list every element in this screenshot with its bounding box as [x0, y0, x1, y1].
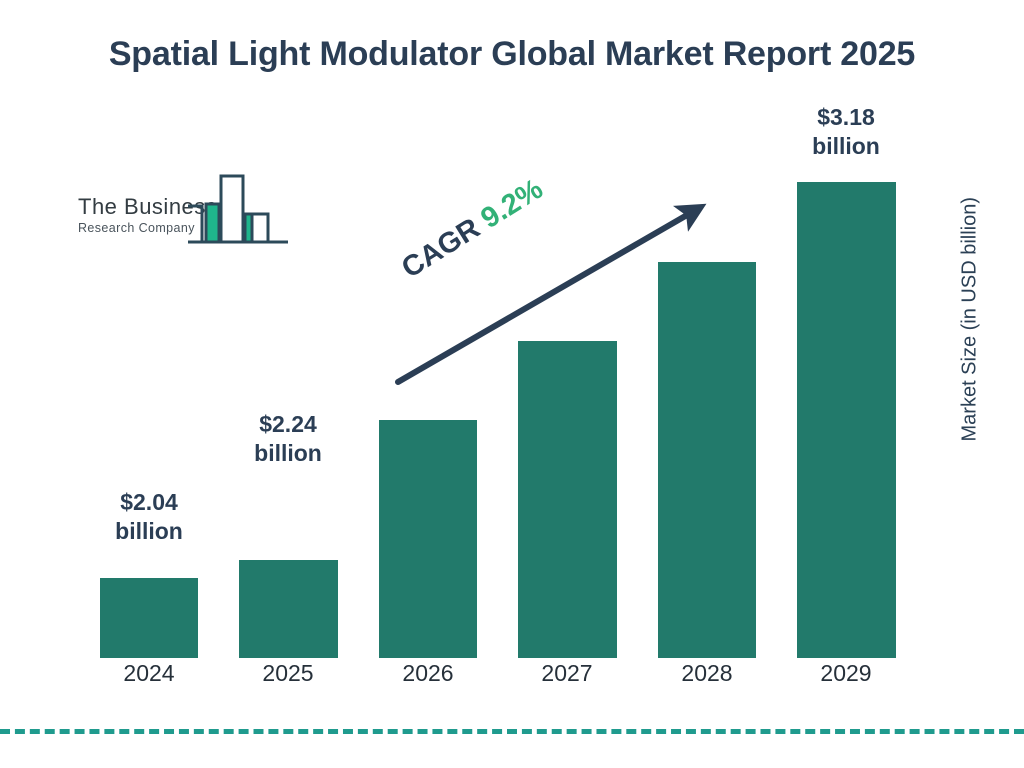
x-tick-2024: 2024 — [89, 662, 209, 685]
bar-2028 — [658, 262, 756, 658]
bar-value-label-2025: $2.24 billion — [228, 410, 348, 469]
x-tick-2026: 2026 — [368, 662, 488, 685]
bar-value-label-2024: $2.04 billion — [89, 488, 209, 547]
footer-divider — [0, 729, 1024, 734]
bar-value-label-2029-line1: $3.18 — [786, 103, 906, 132]
bar-value-label-2029: $3.18 billion — [786, 103, 906, 162]
x-tick-2029: 2029 — [786, 662, 906, 685]
bar-value-label-2029-line2: billion — [786, 132, 906, 161]
bar-value-label-2025-line1: $2.24 — [228, 410, 348, 439]
bar-value-label-2025-line2: billion — [228, 439, 348, 468]
bar-2026 — [379, 420, 477, 658]
bar-2029 — [797, 182, 896, 658]
bar-value-label-2024-line1: $2.04 — [89, 488, 209, 517]
x-tick-2025: 2025 — [228, 662, 348, 685]
y-axis-title: Market Size (in USD billion) — [959, 222, 982, 442]
bar-2025 — [239, 560, 338, 658]
chart-canvas: Spatial Light Modulator Global Market Re… — [0, 0, 1024, 768]
bar-2024 — [100, 578, 198, 658]
bar-value-label-2024-line2: billion — [89, 517, 209, 546]
bar-2027 — [518, 341, 617, 658]
x-tick-2027: 2027 — [507, 662, 627, 685]
x-tick-2028: 2028 — [647, 662, 767, 685]
plot-area: $2.04 billion 2024 $2.24 billion 2025 20… — [0, 0, 1024, 768]
